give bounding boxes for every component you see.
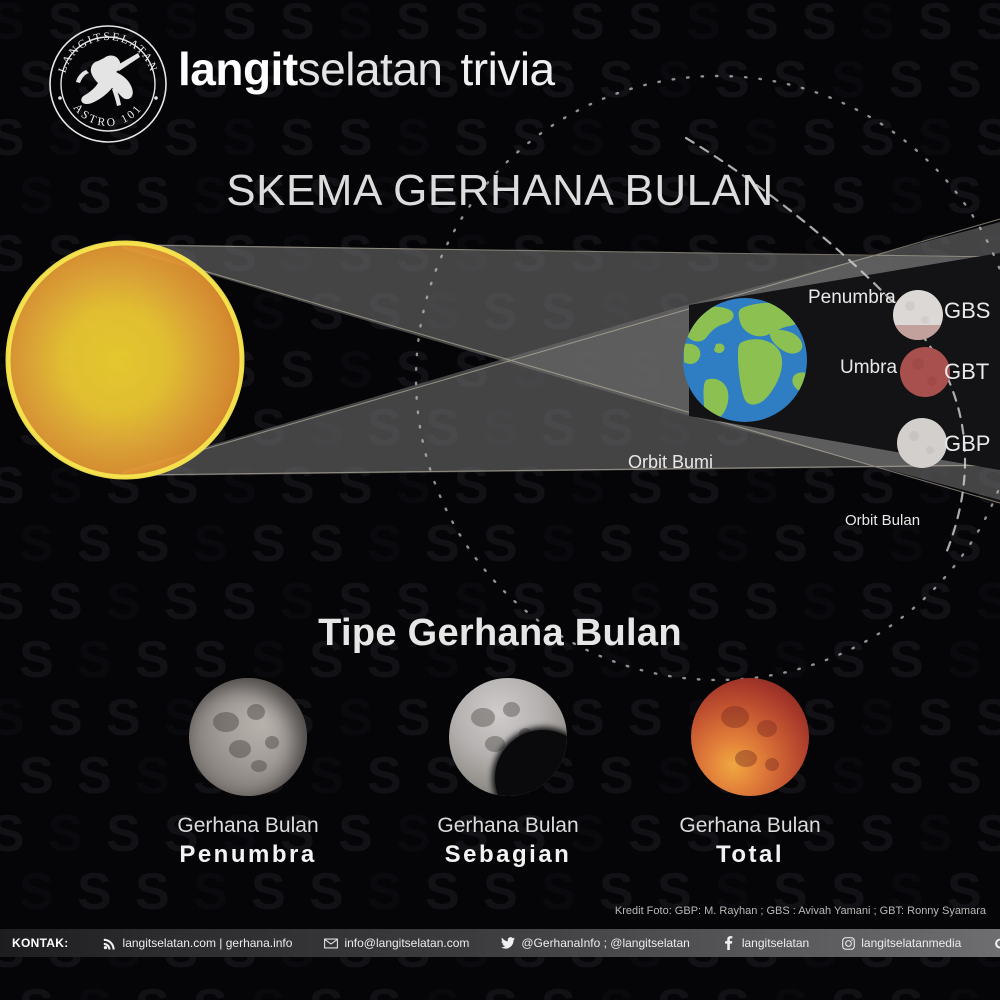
eclipse-type-card-total: Gerhana BulanTotal bbox=[620, 678, 880, 869]
label-penumbra: Penumbra bbox=[808, 287, 896, 309]
moon-gbp-marker bbox=[897, 418, 947, 468]
footer-item-label: @GerhanaInfo ; @langitselatan bbox=[521, 936, 689, 950]
footer-item-website[interactable]: langitselatan.com | gerhana.info bbox=[87, 936, 309, 950]
rss-icon bbox=[103, 936, 117, 950]
eclipse-type-caption: Gerhana BulanSebagian bbox=[378, 814, 638, 869]
eclipse-type-card-penumbra: Gerhana BulanPenumbra bbox=[118, 678, 378, 869]
penumbral-eclipse-photo bbox=[189, 678, 307, 796]
footer-item-facebook[interactable]: langitselatan bbox=[706, 936, 825, 950]
caption-top: Gerhana Bulan bbox=[437, 814, 578, 837]
email-icon bbox=[324, 936, 338, 950]
label-gbs: GBS bbox=[944, 298, 990, 324]
footer-item-instagram[interactable]: langitselatanmedia bbox=[825, 936, 977, 950]
logo-bottom-arc-text: ASTRO 101 bbox=[71, 101, 146, 129]
infographic-canvas: SSSSSSSSSSSSSSSSSSSSSSSSSSSSSSSSSSSSSSSS… bbox=[0, 0, 1000, 1000]
googleplus-icon bbox=[993, 936, 1000, 950]
page-header: LANGITSELATAN ASTRO 101 langitselatantri… bbox=[0, 0, 1000, 140]
wordmark-light: selatan bbox=[298, 43, 443, 95]
facebook-icon bbox=[722, 936, 736, 950]
rider-figure-icon bbox=[76, 53, 140, 106]
brand-wordmark: langitselatantrivia bbox=[178, 42, 555, 98]
footer-item-label: langitselatan.com | gerhana.info bbox=[123, 936, 293, 950]
label-orbit-bulan: Orbit Bulan bbox=[845, 512, 920, 529]
caption-top: Gerhana Bulan bbox=[679, 814, 820, 837]
eclipse-type-caption: Gerhana BulanPenumbra bbox=[118, 814, 378, 869]
footer-item-email[interactable]: info@langitselatan.com bbox=[308, 936, 485, 950]
caption-bottom: Penumbra bbox=[118, 841, 378, 869]
footer-item-label: langitselatanmedia bbox=[861, 936, 961, 950]
total-eclipse-photo bbox=[691, 678, 809, 796]
moon-gbt-marker bbox=[900, 347, 950, 397]
wordmark-bold: langit bbox=[178, 43, 298, 95]
caption-bottom: Sebagian bbox=[378, 841, 638, 869]
photo-credit: Kredit Foto: GBP: M. Rayhan ; GBS : Aviv… bbox=[615, 905, 986, 917]
twitter-icon bbox=[501, 936, 515, 950]
contact-footer-bar: KONTAK: langitselatan.com | gerhana.info… bbox=[0, 929, 1000, 957]
section-title-types: Tipe Gerhana Bulan bbox=[0, 612, 1000, 655]
caption-bottom: Total bbox=[620, 841, 880, 869]
page-title: SKEMA GERHANA BULAN bbox=[0, 166, 1000, 216]
footer-item-label: info@langitselatan.com bbox=[344, 936, 469, 950]
kontak-label: KONTAK: bbox=[0, 936, 87, 950]
eclipse-type-card-sebagian: Gerhana BulanSebagian bbox=[378, 678, 638, 869]
label-gbt: GBT bbox=[944, 359, 989, 385]
wordmark-suffix: trivia bbox=[461, 43, 555, 95]
sun bbox=[7, 242, 243, 478]
footer-item-twitter[interactable]: @GerhanaInfo ; @langitselatan bbox=[485, 936, 705, 950]
instagram-icon bbox=[841, 936, 855, 950]
partial-eclipse-photo bbox=[449, 678, 567, 796]
label-umbra: Umbra bbox=[840, 357, 897, 379]
footer-item-label: langitselatan bbox=[742, 936, 809, 950]
label-gbp: GBP bbox=[944, 431, 990, 457]
label-orbit-bumi: Orbit Bumi bbox=[628, 452, 713, 473]
caption-top: Gerhana Bulan bbox=[177, 814, 318, 837]
eclipse-type-caption: Gerhana BulanTotal bbox=[620, 814, 880, 869]
footer-item-googleplus[interactable]: LangitselatanMedia bbox=[977, 936, 1000, 950]
langitselatan-logo: LANGITSELATAN ASTRO 101 bbox=[46, 22, 170, 146]
